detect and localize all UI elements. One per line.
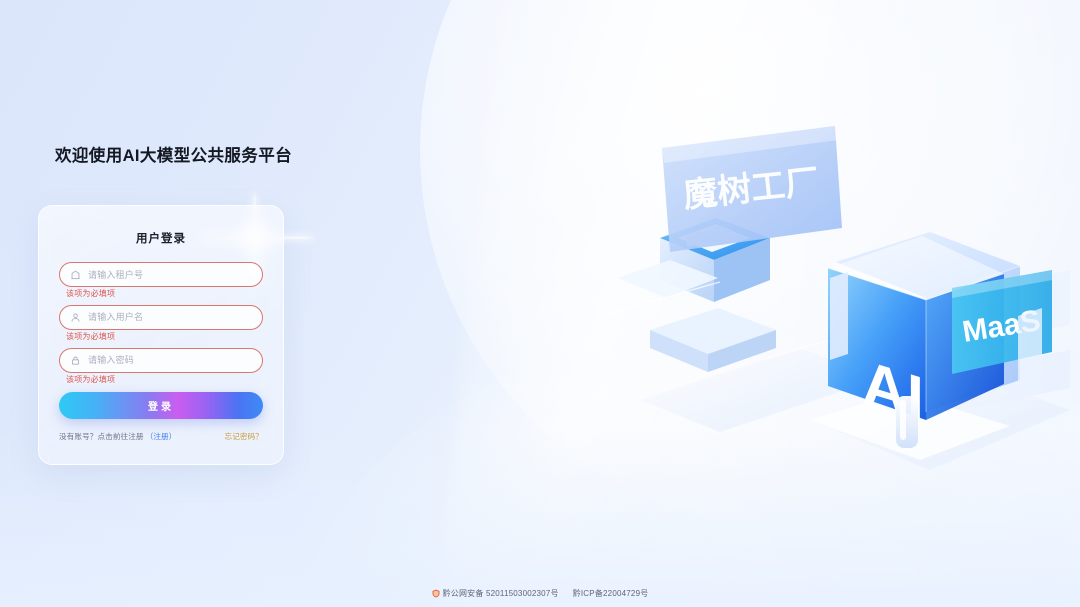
no-account-text-group: 没有账号？点击前往注册（注册） [59, 431, 176, 442]
forgot-password-link[interactable]: 忘记密码？ [225, 431, 263, 442]
police-record-link[interactable]: 黔公网安备 52011503002307号 [432, 588, 559, 599]
password-input[interactable] [88, 355, 252, 365]
register-link[interactable]: （注册） [146, 432, 177, 441]
username-input[interactable] [88, 312, 252, 322]
password-field-group: 该项为必填项 [59, 348, 263, 385]
lock-icon [70, 355, 81, 366]
username-field-group: 该项为必填项 [59, 305, 263, 342]
page-footer: 黔公网安备 52011503002307号 黔ICP备22004729号 [0, 588, 1080, 599]
password-field[interactable] [59, 348, 263, 373]
police-badge-icon [432, 589, 440, 598]
building-icon [70, 269, 81, 280]
illustration-svg: 魔树工厂 [600, 120, 1070, 520]
username-field[interactable] [59, 305, 263, 330]
police-record-text: 黔公网安备 52011503002307号 [443, 588, 559, 599]
right-pillar [1018, 308, 1042, 400]
hero-illustration: 魔树工厂 [600, 120, 1070, 520]
tenant-input[interactable] [88, 270, 252, 280]
icp-record-text: 黔ICP备22004729号 [573, 588, 649, 599]
login-card: 用户登录 该项为必填项 [38, 205, 284, 465]
factory-sign: 魔树工厂 [662, 126, 842, 252]
left-pillar [830, 272, 848, 360]
password-error-message: 该项为必填项 [66, 376, 263, 385]
tenant-field-group: 该项为必填项 [59, 262, 263, 299]
login-card-title: 用户登录 [59, 230, 263, 246]
capsule-pillar [896, 396, 918, 448]
tenant-error-message: 该项为必填项 [66, 290, 263, 299]
page-title: 欢迎使用AI大模型公共服务平台 [55, 142, 292, 166]
login-page: 欢迎使用AI大模型公共服务平台 用户登录 该项为必填项 [0, 0, 1080, 607]
no-account-text: 没有账号？点击前往注册 [59, 432, 144, 441]
user-icon [70, 312, 81, 323]
icp-record-link[interactable]: 黔ICP备22004729号 [573, 588, 649, 599]
login-card-links: 没有账号？点击前往注册（注册） 忘记密码？ [59, 431, 263, 442]
login-button[interactable]: 登录 [59, 392, 263, 419]
tenant-field[interactable] [59, 262, 263, 287]
username-error-message: 该项为必填项 [66, 333, 263, 342]
